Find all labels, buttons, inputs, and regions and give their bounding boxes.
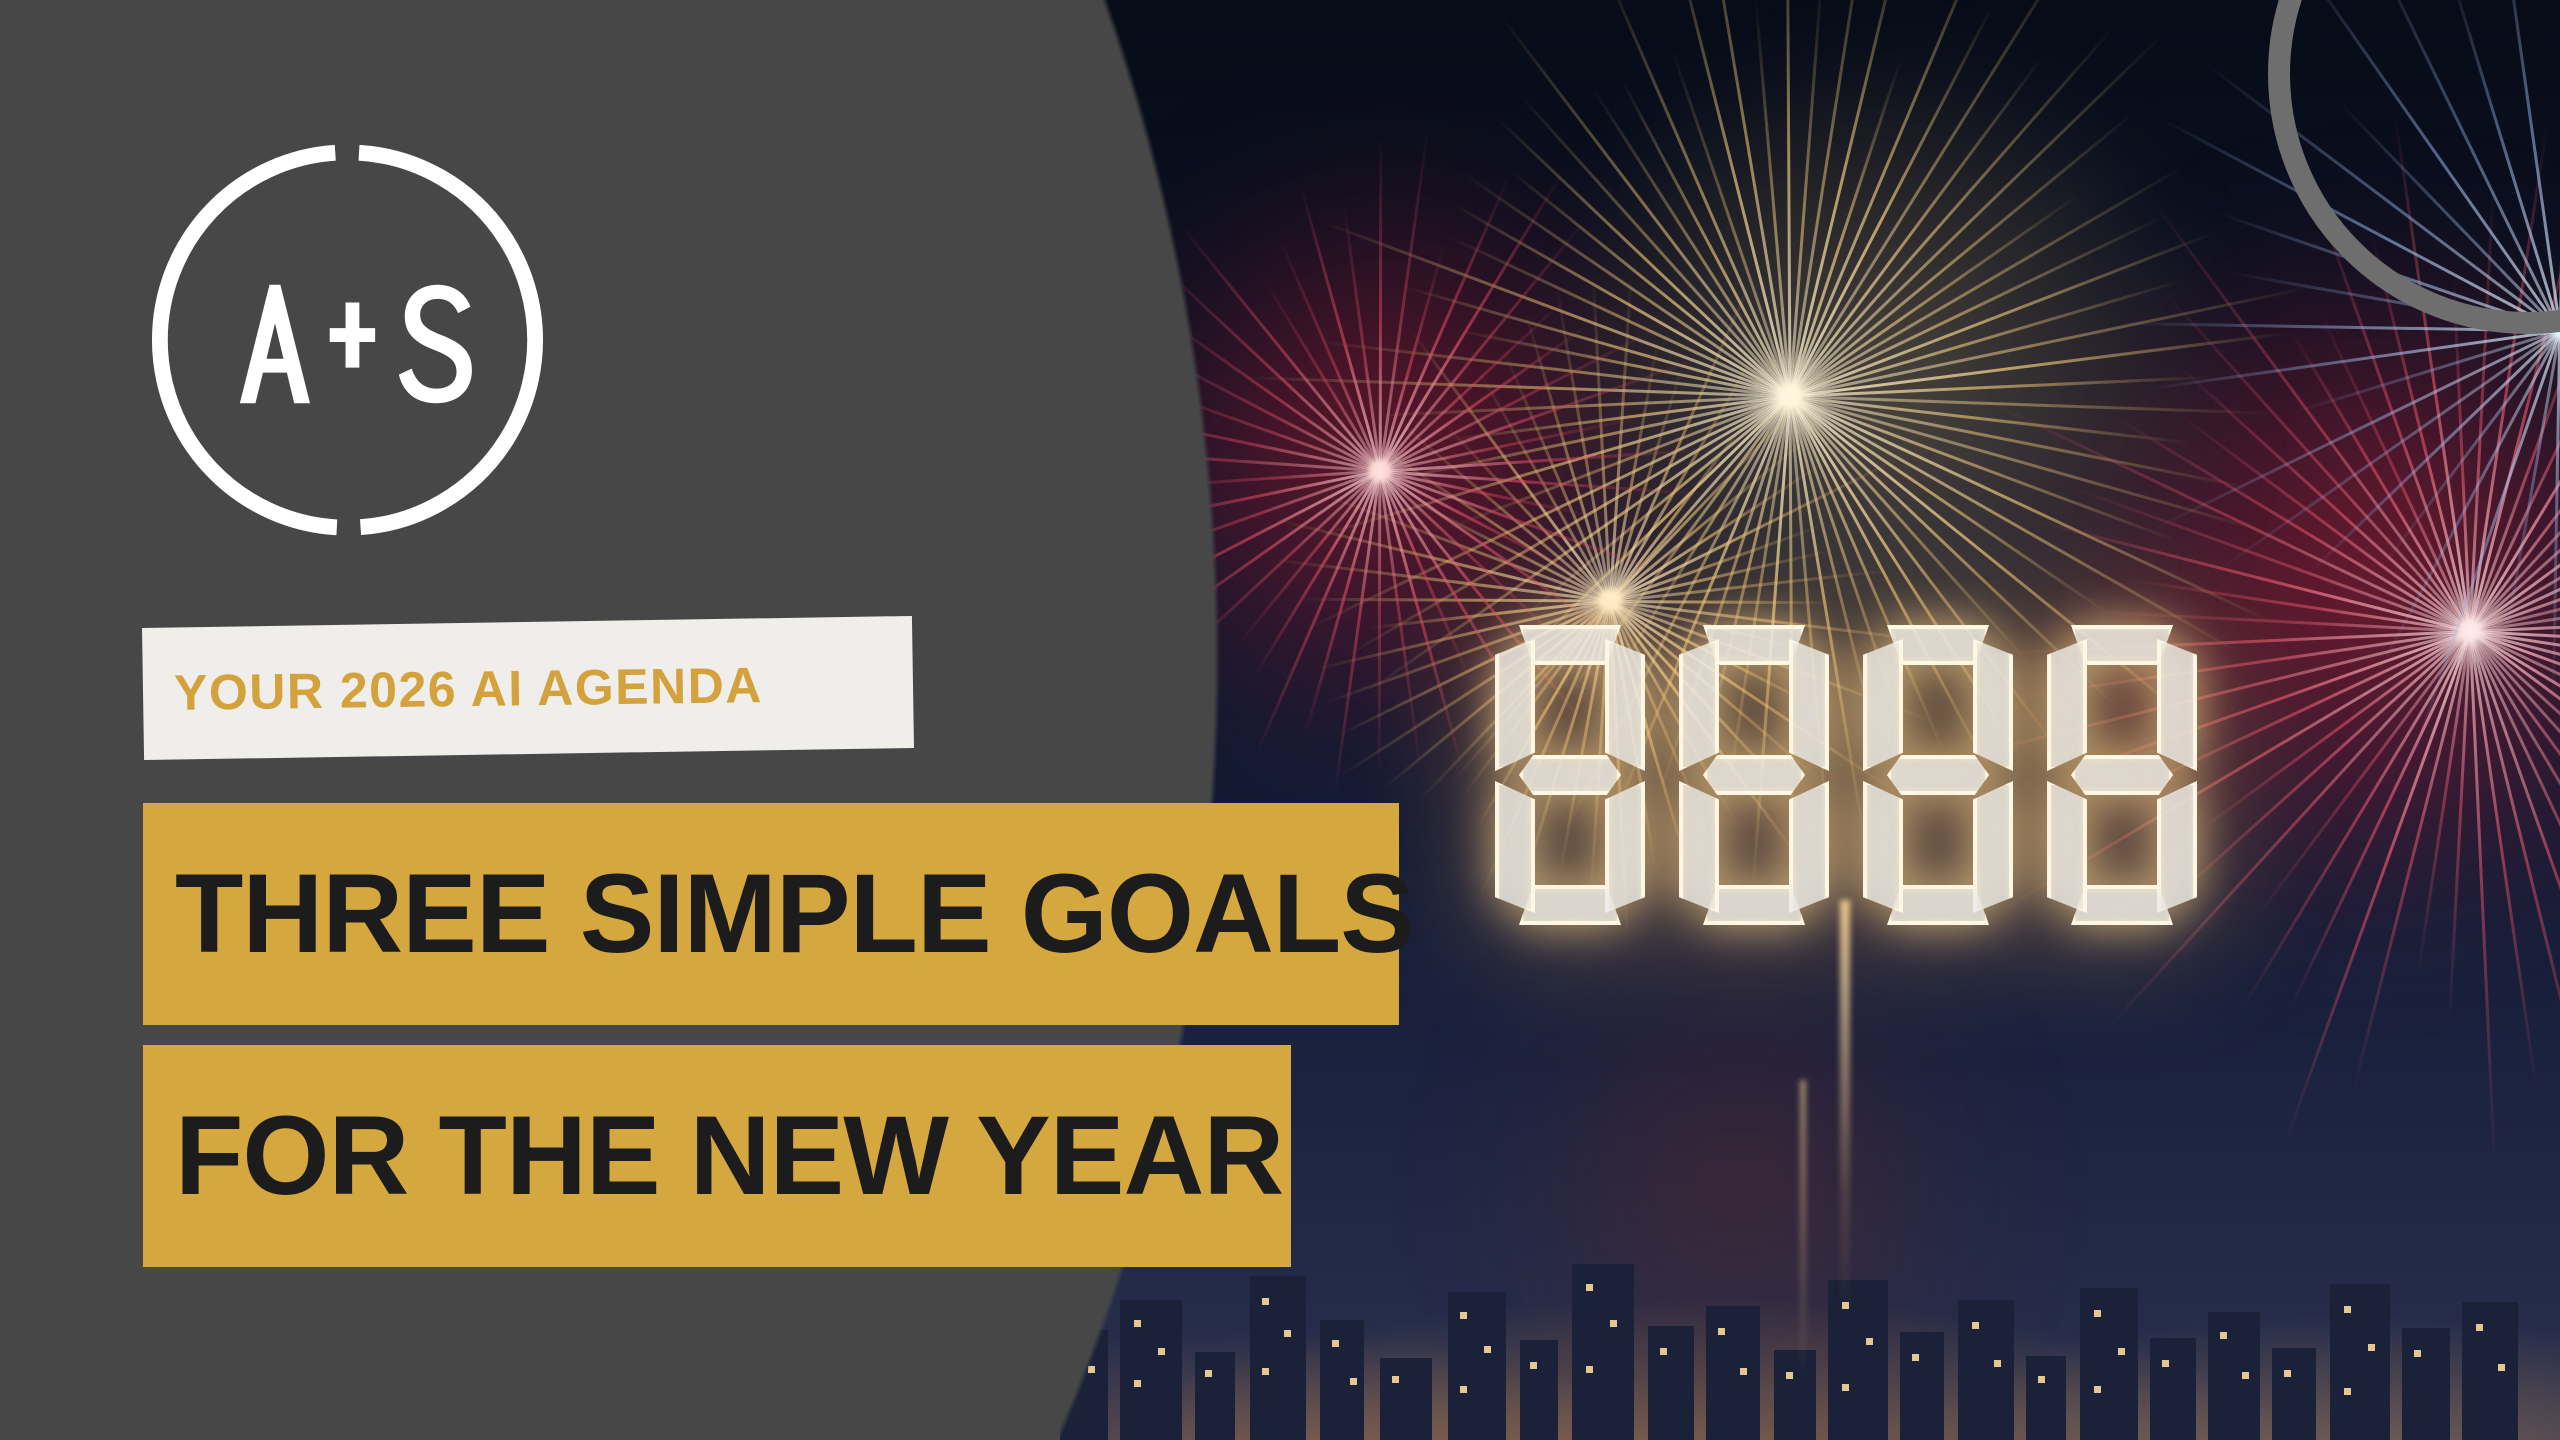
headline-bar-one: THREE SIMPLE GOALS xyxy=(143,803,1399,1025)
logo-circle-mark-icon xyxy=(150,140,545,540)
headline-line-two: FOR THE NEW YEAR xyxy=(143,1100,1283,1212)
headline-bar-two: FOR THE NEW YEAR xyxy=(143,1045,1291,1267)
eyebrow-banner: YOUR 2026 AI AGENDA xyxy=(142,616,914,760)
social-graphic-canvas: 2026 A+S YOUR 2026 AI AGENDA THREE SIMPL… xyxy=(0,0,2560,1440)
eyebrow-text: YOUR 2026 AI AGENDA xyxy=(143,656,764,722)
brand-logo[interactable]: A+S xyxy=(150,140,545,540)
year-digit-6 xyxy=(2047,625,2197,925)
headline-line-one: THREE SIMPLE GOALS xyxy=(143,858,1414,970)
